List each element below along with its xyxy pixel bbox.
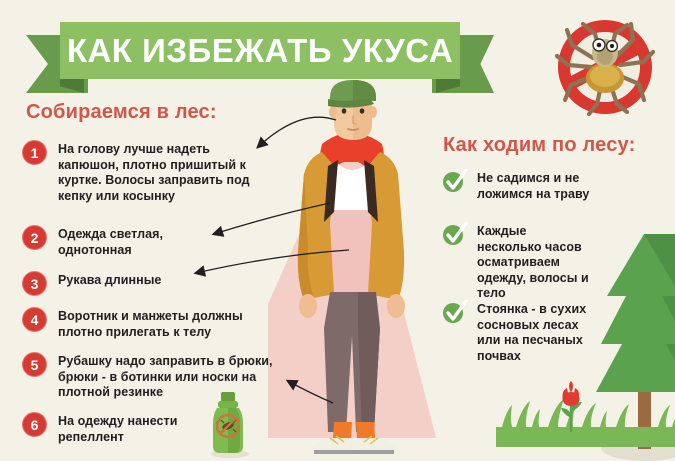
number-badge: 4	[22, 307, 47, 332]
list-item: 6 На одежду нанести репеллент	[22, 412, 182, 445]
list-item: 1 На голову лучше надеть капюшон, плотно…	[22, 140, 272, 204]
left-column-heading: Собираемся в лес:	[26, 101, 217, 124]
list-item: 5 Рубашку надо заправить в брюки, брюки …	[22, 352, 284, 401]
right-column-heading: Как ходим по лесу:	[443, 134, 635, 157]
list-item: 2 Одежда светлая, однотонная	[22, 225, 222, 258]
list-item-text: Не садимся и не ложимся на траву	[477, 170, 593, 202]
list-item-text: Одежда светлая, однотонная	[58, 225, 222, 258]
list-item: 3 Рукава длинные	[22, 271, 222, 296]
infographic-poster: КАК ИЗБЕЖАТЬ УКУСА	[0, 0, 675, 461]
check-icon	[443, 170, 465, 192]
list-item-text: На одежду нанести репеллент	[58, 412, 182, 445]
number-badge: 1	[22, 140, 47, 165]
list-item: Стоянка - в сухих сосновых лесах или на …	[443, 301, 593, 364]
list-item-text: Стоянка - в сухих сосновых лесах или на …	[477, 301, 593, 364]
list-item-text: Каждые несколько часов осматриваем одежд…	[477, 223, 593, 302]
list-item: Не садимся и не ложимся на траву	[443, 170, 593, 202]
list-item-text: Воротник и манжеты должны плотно прилега…	[58, 307, 277, 340]
number-badge: 3	[22, 271, 47, 296]
list-item-text: На голову лучше надеть капюшон, плотно п…	[58, 140, 272, 204]
arrow-to-jacket	[214, 203, 330, 234]
check-icon	[443, 301, 465, 323]
list-item-text: Рубашку надо заправить в брюки, брюки - …	[58, 352, 284, 401]
number-badge: 6	[22, 412, 47, 437]
list-item: 4 Воротник и манжеты должны плотно приле…	[22, 307, 277, 340]
number-badge: 5	[22, 352, 47, 377]
check-icon	[443, 223, 465, 245]
list-item-text: Рукава длинные	[58, 271, 161, 296]
number-badge: 2	[22, 225, 47, 250]
list-item: Каждые несколько часов осматриваем одежд…	[443, 223, 593, 302]
arrow-to-shoes	[288, 381, 333, 403]
